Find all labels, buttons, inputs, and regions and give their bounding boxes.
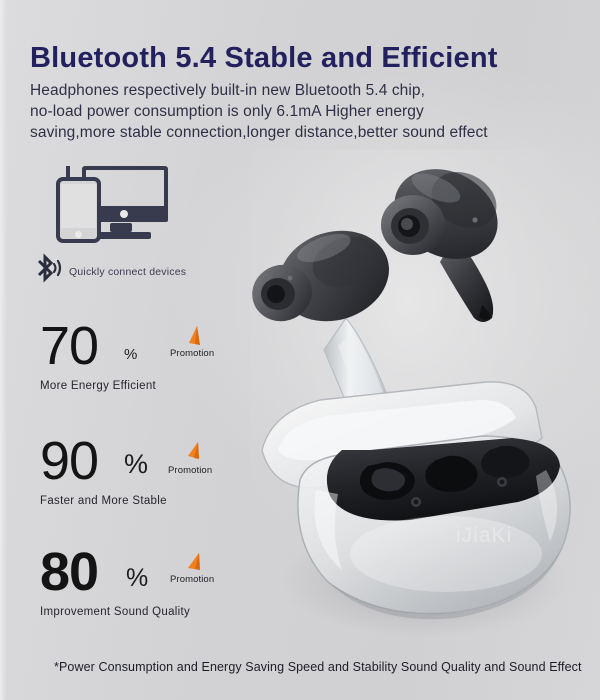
stat-number: 70 bbox=[40, 318, 98, 374]
orange-up-arrow-icon bbox=[180, 550, 206, 576]
promotion-label: Promotion bbox=[170, 348, 240, 359]
monitor-stand-base bbox=[93, 232, 151, 239]
stat-number: 90 bbox=[40, 433, 98, 489]
subheadline-line-1: Headphones respectively built-in new Blu… bbox=[30, 80, 510, 101]
stat-caption: Improvement Sound Quality bbox=[40, 606, 190, 618]
promotion-badge: Promotion bbox=[166, 439, 236, 487]
smartphone-home-button-icon bbox=[75, 231, 82, 238]
promotion-badge: Promotion bbox=[166, 550, 236, 598]
promotion-label: Promotion bbox=[170, 574, 240, 585]
promotion-label: Promotion bbox=[168, 465, 238, 476]
stat-number: 80 bbox=[40, 544, 98, 600]
orange-up-arrow-icon bbox=[180, 439, 206, 465]
monitor-camera-dot-icon bbox=[120, 210, 128, 218]
device-icons-group bbox=[36, 166, 168, 248]
quick-connect-label: Quickly connect devices bbox=[69, 266, 186, 278]
stat-caption: More Energy Efficient bbox=[40, 380, 156, 392]
quick-connect-row: Quickly connect devices bbox=[32, 252, 186, 291]
product-image-earbuds: iJiaKi bbox=[250, 150, 600, 650]
stat-percent-sign: % bbox=[124, 449, 148, 480]
left-edge-highlight bbox=[0, 0, 7, 700]
promo-banner: Bluetooth 5.4 Stable and Efficient Headp… bbox=[0, 0, 600, 700]
bluetooth-icon bbox=[32, 252, 62, 291]
smartphone-screen bbox=[61, 184, 96, 228]
promotion-badge: Promotion bbox=[166, 324, 236, 372]
stat-percent-sign: % bbox=[126, 564, 148, 593]
subheadline-line-2: no-load power consumption is only 6.1mA … bbox=[30, 101, 510, 122]
monitor-stand-neck bbox=[110, 223, 132, 232]
stat-caption: Faster and More Stable bbox=[40, 495, 167, 507]
subheadline-line-3: saving,more stable connection,longer dis… bbox=[30, 122, 510, 143]
stat-percent-sign: % bbox=[124, 346, 137, 363]
orange-up-arrow-icon bbox=[180, 324, 206, 350]
product-brand-mark: iJiaKi bbox=[456, 524, 512, 547]
subheadline-copy: Headphones respectively built-in new Blu… bbox=[30, 80, 510, 143]
page-title: Bluetooth 5.4 Stable and Efficient bbox=[30, 42, 498, 75]
footer-note: *Power Consumption and Energy Saving Spe… bbox=[54, 660, 582, 674]
